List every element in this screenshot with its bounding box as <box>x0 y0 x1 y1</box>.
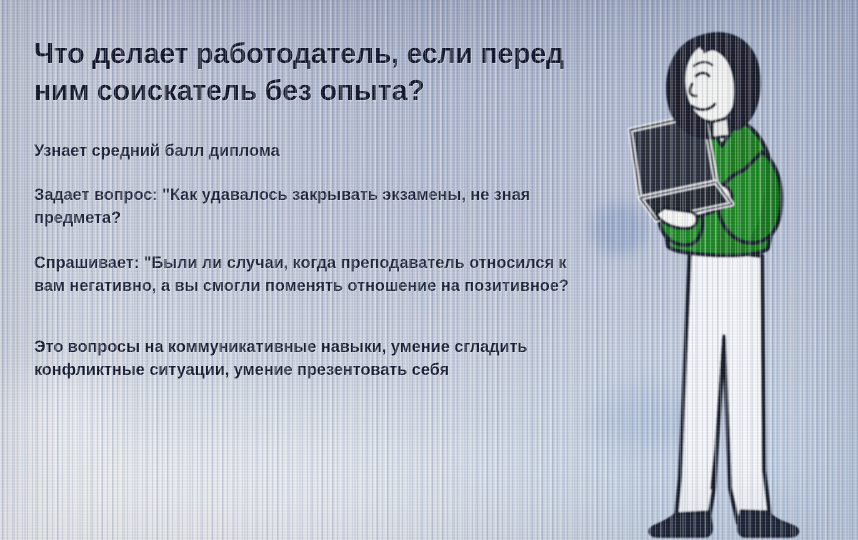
slide-photo: Что делает работодатель, если перед ним … <box>0 0 858 540</box>
slide-title: Что делает работодатель, если перед ним … <box>34 36 594 110</box>
slide-text-column: Что делает работодатель, если перед ним … <box>34 36 594 403</box>
illustration-svg <box>612 18 858 540</box>
head <box>668 34 759 138</box>
woman-with-laptop-illustration <box>612 18 858 540</box>
slide-paragraph-3: Спрашивает: "Были ли случаи, когда препо… <box>34 252 594 298</box>
trousers <box>676 248 770 523</box>
slide-paragraph-2: Задает вопрос: "Как удавалось закрывать … <box>34 184 594 230</box>
slide-conclusion: Это вопросы на коммуникативные навыки, у… <box>34 336 594 382</box>
slide-paragraph-1: Узнает средний балл диплома <box>34 140 594 163</box>
shoes <box>650 511 797 536</box>
